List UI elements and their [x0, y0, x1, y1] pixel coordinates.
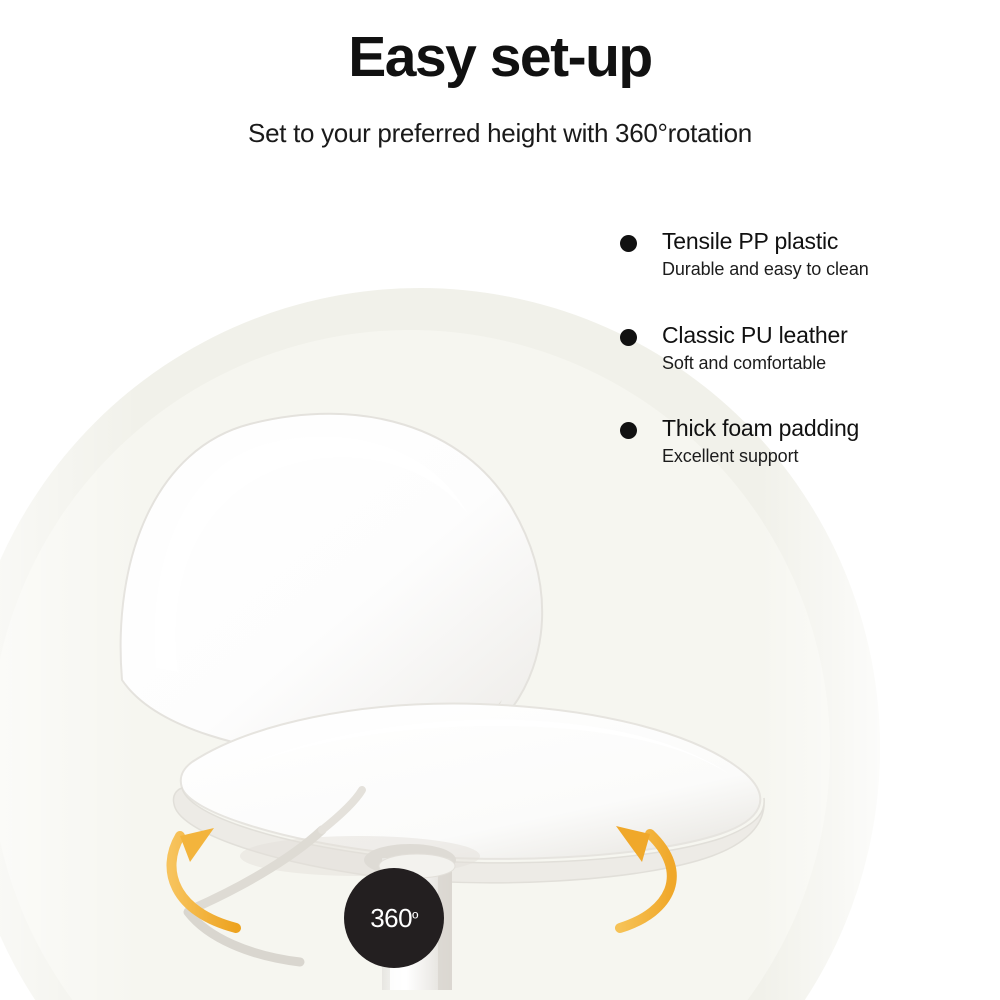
feature-description: Soft and comfortable [662, 352, 980, 375]
feature-title: Thick foam padding [662, 415, 980, 442]
rotation-badge-number: 360 [370, 903, 412, 934]
page-subtitle: Set to your preferred height with 360°ro… [0, 118, 1000, 149]
list-item: Tensile PP plastic Durable and easy to c… [620, 228, 980, 282]
feature-description: Excellent support [662, 445, 980, 468]
bullet-icon [620, 329, 637, 346]
feature-title: Classic PU leather [662, 322, 980, 349]
list-item: Classic PU leather Soft and comfortable [620, 322, 980, 376]
list-item: Thick foam padding Excellent support [620, 415, 980, 469]
promo-page: Easy set-up Set to your preferred height… [0, 0, 1000, 1000]
feature-title: Tensile PP plastic [662, 228, 980, 255]
feature-description: Durable and easy to clean [662, 258, 980, 281]
rotation-badge-degree: º [412, 910, 418, 927]
bullet-icon [620, 422, 637, 439]
bullet-icon [620, 235, 637, 252]
page-title: Easy set-up [0, 28, 1000, 88]
feature-list: Tensile PP plastic Durable and easy to c… [620, 228, 980, 469]
rotation-badge: 360º [344, 868, 444, 968]
